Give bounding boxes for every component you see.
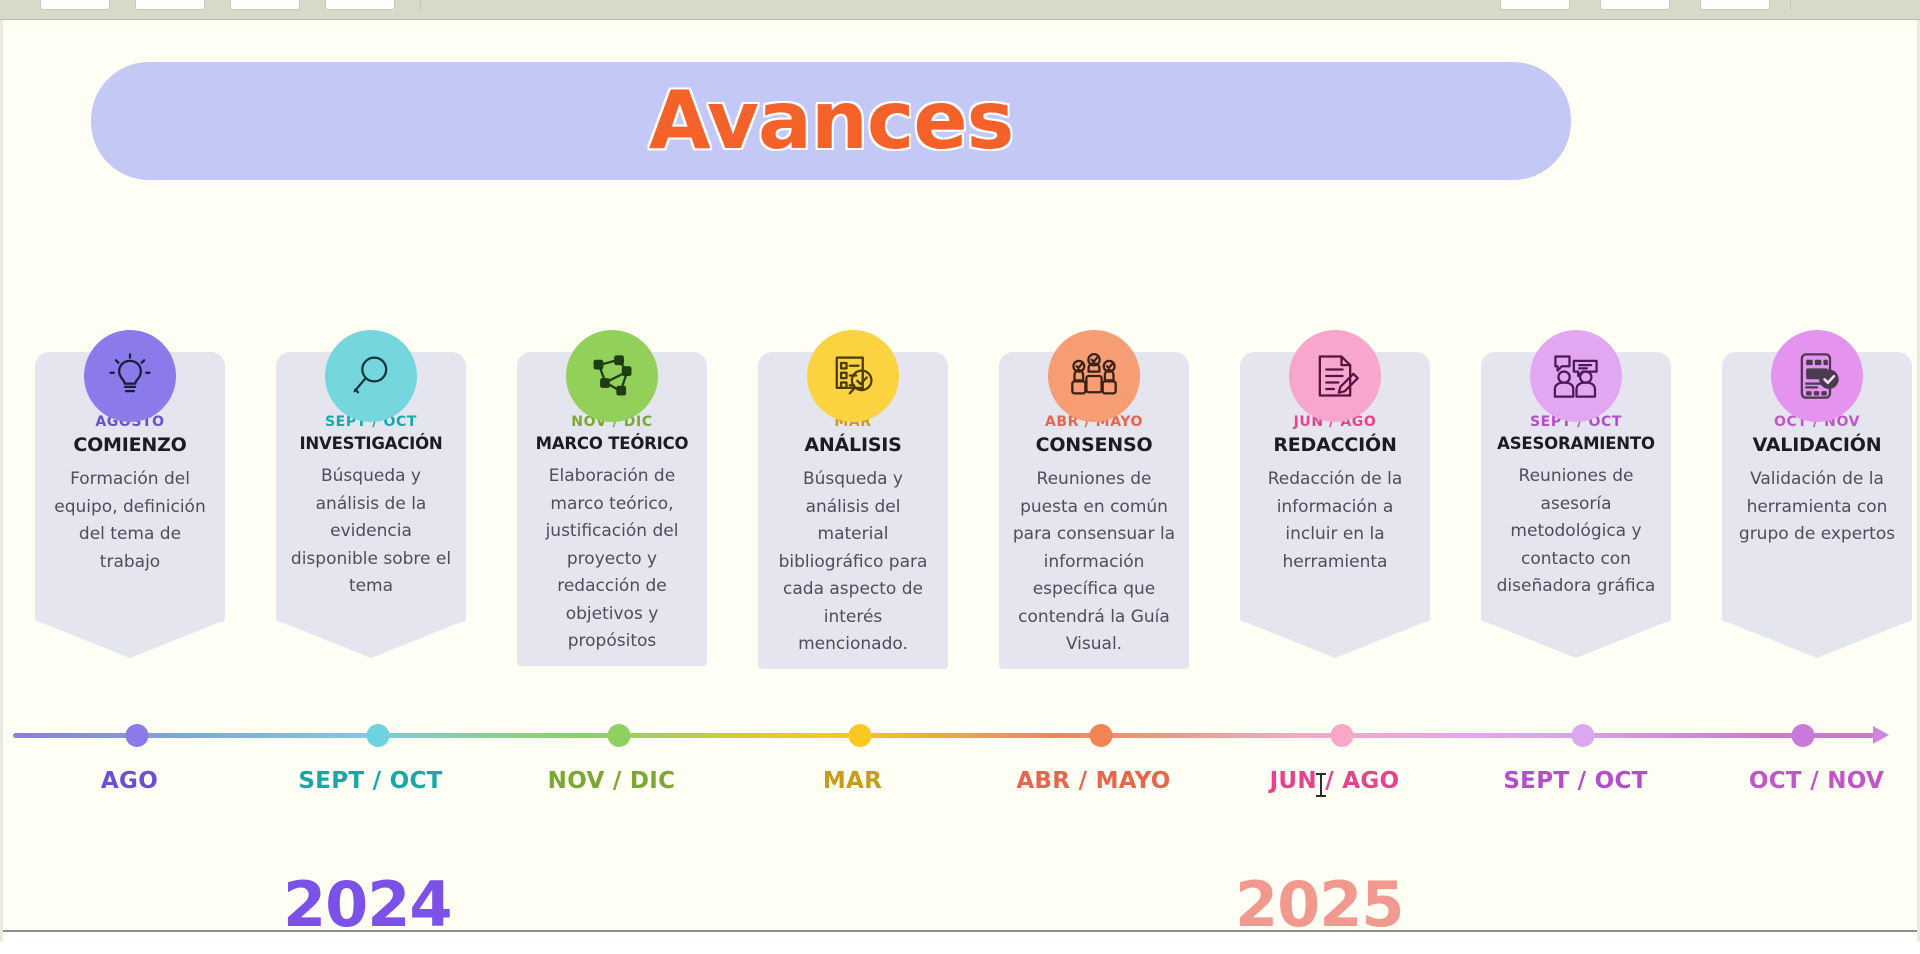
timeline-month-labels: AGOSEPT / OCTNOV / DICMARABR / MAYOJUN /… <box>27 768 1907 808</box>
card-icon-badge <box>566 330 658 422</box>
document-pen-icon <box>1309 350 1361 402</box>
card-icon-badge <box>1048 330 1140 422</box>
toolbar-separator-1 <box>420 0 421 10</box>
milestone-card[interactable]: JUN / AGOREDACCIÓNRedacción de la inform… <box>1232 330 1437 690</box>
slide-bottom-edge <box>3 930 1920 942</box>
card-icon-badge <box>1289 330 1381 422</box>
card-pointer-tail <box>1481 620 1671 658</box>
card-title: VALIDACIÓN <box>1734 434 1900 456</box>
card-description: Búsqueda y análisis de la evidencia disp… <box>288 463 454 601</box>
page-title: Avances <box>91 68 1571 174</box>
network-nodes-icon <box>586 350 638 402</box>
toolbar-button-6[interactable] <box>1600 0 1670 10</box>
toolbar-button-7[interactable] <box>1700 0 1770 10</box>
milestone-card[interactable]: AGOSTOCOMIENZOFormación del equipo, defi… <box>27 330 232 690</box>
lightbulb-icon <box>104 350 156 402</box>
text-ibeam-cursor <box>1316 772 1325 798</box>
timeline-month-label: SEPT / OCT <box>268 768 473 808</box>
milestone-card[interactable]: MARANÁLISISBúsqueda y análisis del mater… <box>750 330 955 690</box>
toolbar-button-1[interactable] <box>40 0 110 10</box>
timeline-month-label: SEPT / OCT <box>1473 768 1678 808</box>
timeline-dot[interactable] <box>849 724 872 747</box>
card-icon-badge <box>1771 330 1863 422</box>
card-title: CONSENSO <box>1011 434 1177 456</box>
timeline-dot[interactable] <box>608 724 631 747</box>
timeline-dot[interactable] <box>1331 724 1354 747</box>
card-title: REDACCIÓN <box>1252 434 1418 456</box>
timeline-dot[interactable] <box>1090 724 1113 747</box>
milestone-card[interactable]: ABR / MAYOCONSENSOReuniones de puesta en… <box>991 330 1196 690</box>
timeline-month-label: ABR / MAYO <box>991 768 1196 808</box>
app-toolbar <box>0 0 1920 20</box>
card-title: MARCO TEÓRICO <box>529 434 695 453</box>
timeline-dot[interactable] <box>367 724 390 747</box>
card-pointer-tail <box>35 620 225 658</box>
card-description: Formación del equipo, definición del tem… <box>47 466 213 576</box>
card-description: Reuniones de puesta en común para consen… <box>1011 466 1177 659</box>
milestone-card[interactable]: SEPT / OCTASESORAMIENTOReuniones de ases… <box>1473 330 1678 690</box>
timeline-month-label: JUN / AGO <box>1232 768 1437 808</box>
timeline-month-label: NOV / DIC <box>509 768 714 808</box>
card-icon-badge <box>1530 330 1622 422</box>
milestone-card[interactable]: NOV / DICMARCO TEÓRICOElaboración de mar… <box>509 330 714 690</box>
card-title: COMIENZO <box>47 434 213 456</box>
mobile-check-icon <box>1791 350 1843 402</box>
timeline-dot[interactable] <box>1572 724 1595 747</box>
timeline-month-label: OCT / NOV <box>1714 768 1919 808</box>
milestone-card[interactable]: OCT / NOVVALIDACIÓNValidación de la herr… <box>1714 330 1919 690</box>
timeline-axis <box>3 720 1920 750</box>
toolbar-separator-2 <box>1790 0 1791 10</box>
card-title: INVESTIGACIÓN <box>288 434 454 453</box>
card-description: Elaboración de marco teórico, justificac… <box>529 463 695 656</box>
card-description: Redacción de la información a incluir en… <box>1252 466 1418 576</box>
card-description: Reuniones de asesoría metodológica y con… <box>1493 463 1659 601</box>
toolbar-button-5[interactable] <box>1500 0 1570 10</box>
toolbar-button-2[interactable] <box>135 0 205 10</box>
checklist-search-icon <box>827 350 879 402</box>
card-title: ASESORAMIENTO <box>1493 434 1659 453</box>
toolbar-button-3[interactable] <box>230 0 300 10</box>
timeline-month-label: MAR <box>750 768 955 808</box>
card-icon-badge <box>325 330 417 422</box>
card-icon-badge <box>807 330 899 422</box>
card-title: ANÁLISIS <box>770 434 936 456</box>
timeline-month-label: AGO <box>27 768 232 808</box>
timeline-gradient-line <box>13 733 1875 738</box>
card-pointer-tail <box>1722 620 1912 658</box>
card-pointer-tail <box>276 620 466 658</box>
milestone-cards-row: AGOSTOCOMIENZOFormación del equipo, defi… <box>27 330 1907 690</box>
timeline-dot[interactable] <box>126 724 149 747</box>
magnifier-icon <box>345 350 397 402</box>
milestone-card[interactable]: SEPT / OCTINVESTIGACIÓNBúsqueda y anális… <box>268 330 473 690</box>
timeline-arrow-icon <box>1873 726 1889 744</box>
toolbar-button-4[interactable] <box>325 0 395 10</box>
people-chat-icon <box>1550 350 1602 402</box>
timeline-dot[interactable] <box>1792 724 1815 747</box>
slide-canvas: Avances AGOSTOCOMIENZOFormación del equi… <box>0 20 1920 942</box>
people-consensus-icon <box>1068 350 1120 402</box>
card-pointer-tail <box>1240 620 1430 658</box>
card-icon-badge <box>84 330 176 422</box>
card-description: Validación de la herramienta con grupo d… <box>1734 466 1900 549</box>
card-description: Búsqueda y análisis del material bibliog… <box>770 466 936 659</box>
